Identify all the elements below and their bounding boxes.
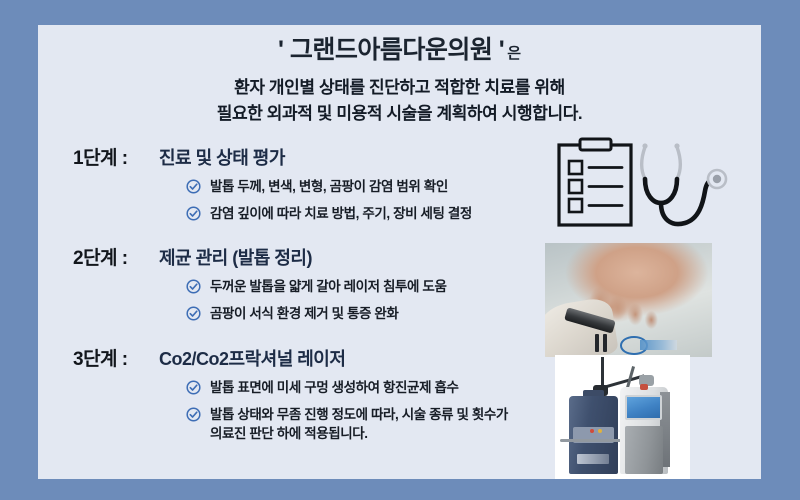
white-unit-side-panel [660, 392, 669, 466]
bullet-item: 발톱 표면에 미세 구멍 생성하여 항진균제 흡수 [186, 378, 563, 397]
check-circle-icon [186, 306, 201, 321]
laser-articulated-arm [601, 357, 604, 389]
navy-unit-handle-bar [560, 439, 623, 442]
step-3-bullets: 발톱 표면에 미세 구멍 생성하여 항진균제 흡수 발톱 상태와 무좀 진행 정… [186, 378, 563, 443]
step-3-title: Co2/Co2프락셔널 레이저 [159, 345, 345, 371]
step-2: 2단계 : 제균 관리 (발톱 정리) 두꺼운 발톱을 얇게 갈아 레이저 침투… [73, 243, 563, 323]
step-1-label: 1단계 : [73, 143, 155, 170]
navy-unit-control-panel [573, 427, 615, 443]
treatment-tool-region [564, 307, 616, 333]
clinic-name-line: ' 그랜드아름다운의원 '은 [38, 37, 761, 65]
photo-watermark-logo [620, 336, 647, 355]
co2-laser-machine-photo [555, 355, 690, 479]
step-1-heading: 1단계 : 진료 및 상태 평가 [73, 143, 563, 170]
foot-toes-region [590, 284, 674, 330]
steps-list: 1단계 : 진료 및 상태 평가 발톱 두께, 변색, 변형, 곰팡이 감염 범… [73, 143, 563, 443]
indicator-led-red [590, 429, 594, 433]
check-circle-icon [186, 206, 201, 221]
infographic-poster: ' 그랜드아름다운의원 '은 환자 개인별 상태를 진단하고 적합한 치료를 위… [0, 0, 800, 500]
step-1: 1단계 : 진료 및 상태 평가 발톱 두께, 변색, 변형, 곰팡이 감염 범… [73, 143, 563, 223]
poster-header: ' 그랜드아름다운의원 '은 환자 개인별 상태를 진단하고 적합한 치료를 위… [38, 37, 761, 127]
laser-touchscreen [625, 395, 661, 420]
step-2-title: 제균 관리 (발톱 정리) [159, 244, 312, 270]
bullet-item: 감염 깊이에 따라 치료 방법, 주기, 장비 세팅 결정 [186, 204, 563, 223]
bullet-text: 발톱 상태와 무좀 진행 정도에 따라, 시술 종류 및 횟수가 의료진 판단 … [210, 405, 520, 443]
foot-photo-background [545, 243, 712, 357]
check-circle-icon [186, 179, 201, 194]
step-3-heading: 3단계 : Co2/Co2프락셔널 레이저 [73, 344, 563, 371]
photo-watermark-label [640, 340, 677, 350]
bullet-text: 발톱 두께, 변색, 변형, 곰팡이 감염 범위 확인 [210, 177, 448, 196]
bullet-item: 발톱 상태와 무좀 진행 정도에 따라, 시술 종류 및 횟수가 의료진 판단 … [186, 405, 563, 443]
header-subtitle-line-1: 환자 개인별 상태를 진단하고 적합한 치료를 위해 [38, 75, 761, 101]
foot-treatment-photo [545, 243, 712, 357]
indicator-led-yellow [598, 429, 602, 433]
step-3: 3단계 : Co2/Co2프락셔널 레이저 발톱 표면에 미세 구멍 생성하여 … [73, 344, 563, 443]
navy-unit-brand-plate [577, 454, 609, 464]
laser-arm-joint [593, 385, 608, 396]
check-circle-icon [186, 279, 201, 294]
photo-marker-strip [603, 334, 607, 352]
clipboard-stethoscope-illustration [553, 135, 733, 235]
check-circle-icon [186, 380, 201, 395]
bullet-item: 발톱 두께, 변색, 변형, 곰팡이 감염 범위 확인 [186, 177, 563, 196]
laser-articulated-arm [604, 374, 644, 388]
white-laser-unit [620, 387, 669, 474]
step-2-label: 2단계 : [73, 243, 155, 270]
bullet-text: 발톱 표면에 미세 구멍 생성하여 항진균제 흡수 [210, 378, 458, 397]
laser-articulated-arm [626, 366, 635, 388]
navy-unit-top [583, 390, 603, 400]
laser-handpiece [639, 375, 654, 386]
bullet-item: 곰팡이 서식 환경 제거 및 통증 완화 [186, 304, 563, 323]
clinic-name-particle: 은 [507, 45, 521, 62]
emergency-stop-button [640, 384, 648, 390]
check-circle-icon [186, 407, 201, 422]
bullet-text: 두꺼운 발톱을 얇게 갈아 레이저 침투에 도움 [210, 277, 446, 296]
bullet-text: 곰팡이 서식 환경 제거 및 통증 완화 [210, 304, 398, 323]
step-1-bullets: 발톱 두께, 변색, 변형, 곰팡이 감염 범위 확인 감염 깊이에 따라 치료… [186, 177, 563, 223]
step-2-bullets: 두꺼운 발톱을 얇게 갈아 레이저 침투에 도움 곰팡이 서식 환경 제거 및 … [186, 277, 563, 323]
step-3-label: 3단계 : [73, 344, 155, 371]
navy-laser-unit [569, 396, 619, 474]
photo-marker-strip [595, 334, 599, 352]
step-1-title: 진료 및 상태 평가 [159, 144, 285, 170]
clinic-name: ' 그랜드아름다운의원 ' [278, 36, 504, 64]
content-panel: ' 그랜드아름다운의원 '은 환자 개인별 상태를 진단하고 적합한 치료를 위… [38, 25, 761, 479]
bullet-item: 두꺼운 발톱을 얇게 갈아 레이저 침투에 도움 [186, 277, 563, 296]
white-unit-lower-body [625, 426, 663, 474]
step-2-heading: 2단계 : 제균 관리 (발톱 정리) [73, 243, 563, 270]
header-subtitle-line-2: 필요한 외과적 및 미용적 시술을 계획하여 시행합니다. [38, 101, 761, 127]
bullet-text: 감염 깊이에 따라 치료 방법, 주기, 장비 세팅 결정 [210, 204, 472, 223]
